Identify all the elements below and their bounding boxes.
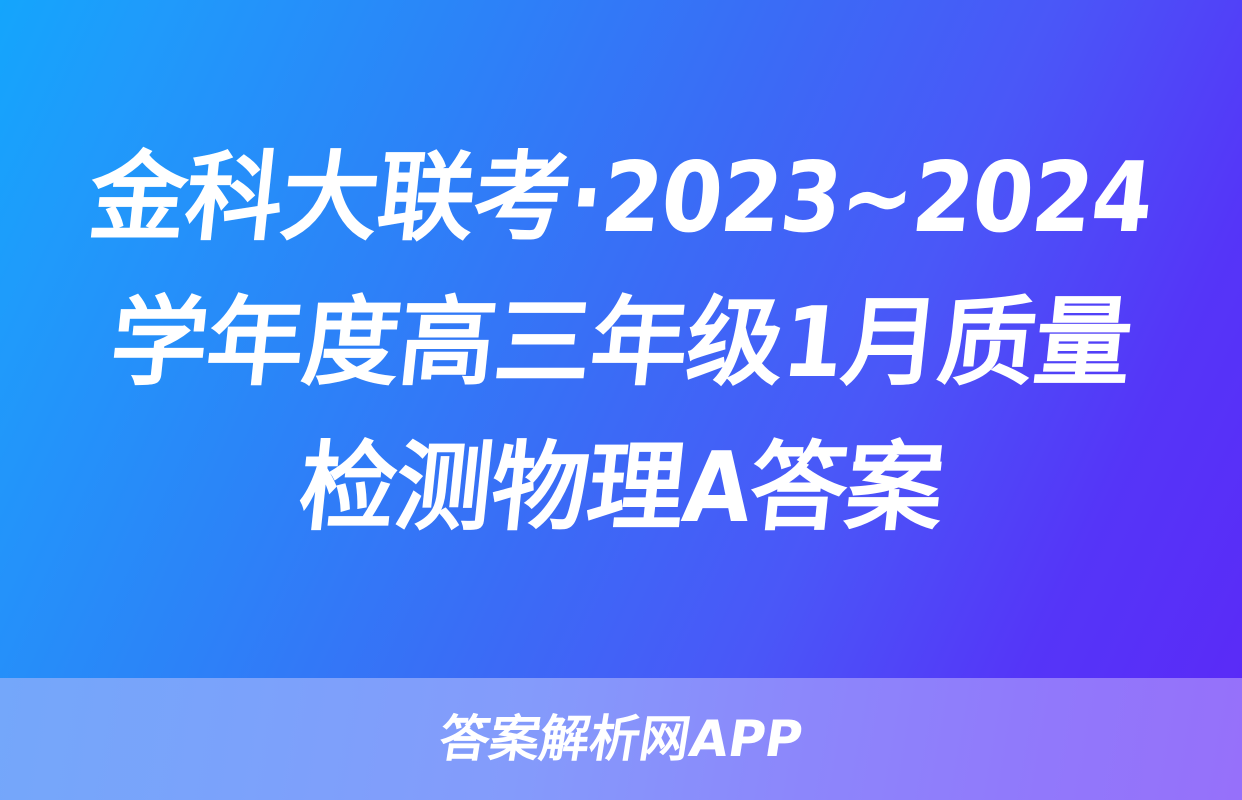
title-line-2: 学年度高三年级1月质量 — [73, 270, 1168, 415]
title-block: 金科大联考·2023~2024 学年度高三年级1月质量 检测物理A答案 — [81, 119, 1161, 560]
app-watermark-bar: 答案解析网APP — [0, 678, 1242, 800]
title-line-3: 检测物理A答案 — [73, 415, 1168, 560]
title-line-1: 金科大联考·2023~2024 — [73, 125, 1168, 270]
app-watermark-label: 答案解析网APP — [436, 711, 807, 767]
title-banner: 金科大联考·2023~2024 学年度高三年级1月质量 检测物理A答案 — [0, 0, 1242, 678]
banner-page: 金科大联考·2023~2024 学年度高三年级1月质量 检测物理A答案 答案解析… — [0, 0, 1242, 800]
